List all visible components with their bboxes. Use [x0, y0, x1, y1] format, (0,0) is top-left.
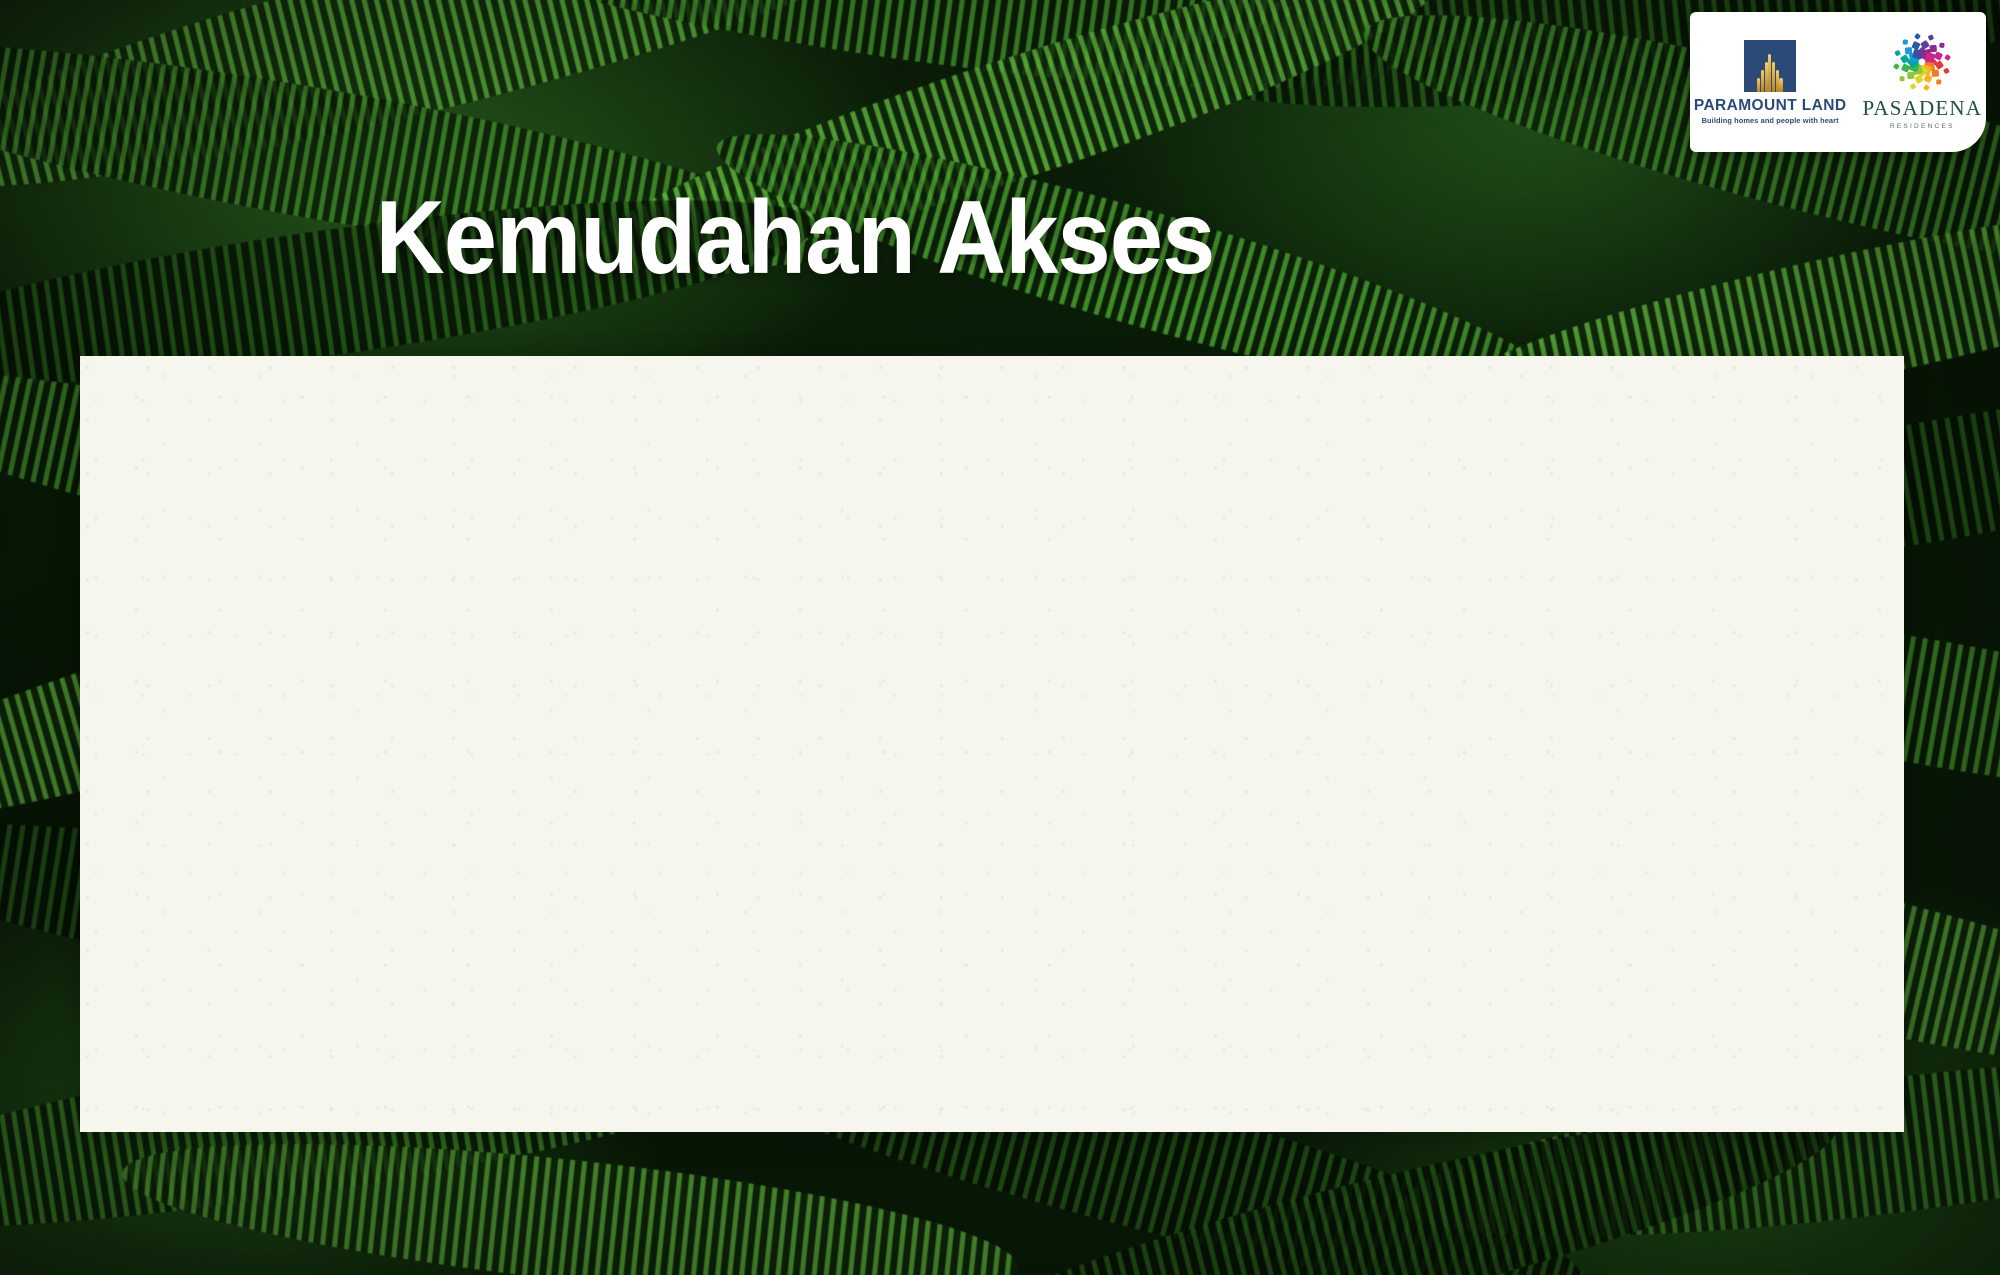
pasadena-residences-logo: PASADENA RESIDENCES [1862, 34, 1982, 130]
access-card [80, 356, 1904, 1132]
pasadena-mandala-icon [1894, 34, 1950, 90]
paramount-land-tagline: Building homes and people with heart [1702, 116, 1839, 125]
pasadena-tagline: RESIDENCES [1890, 123, 1955, 130]
paramount-land-logo: PARAMOUNT LAND Building homes and people… [1694, 40, 1847, 125]
photo-circles [80, 356, 1904, 1132]
paramount-land-name: PARAMOUNT LAND [1694, 97, 1847, 115]
logo-panel: PARAMOUNT LAND Building homes and people… [1690, 12, 1986, 152]
page-title: Kemudahan Akses [64, 186, 1527, 290]
paramount-tower-icon [1744, 40, 1796, 92]
pasadena-name: PASADENA [1862, 96, 1982, 121]
